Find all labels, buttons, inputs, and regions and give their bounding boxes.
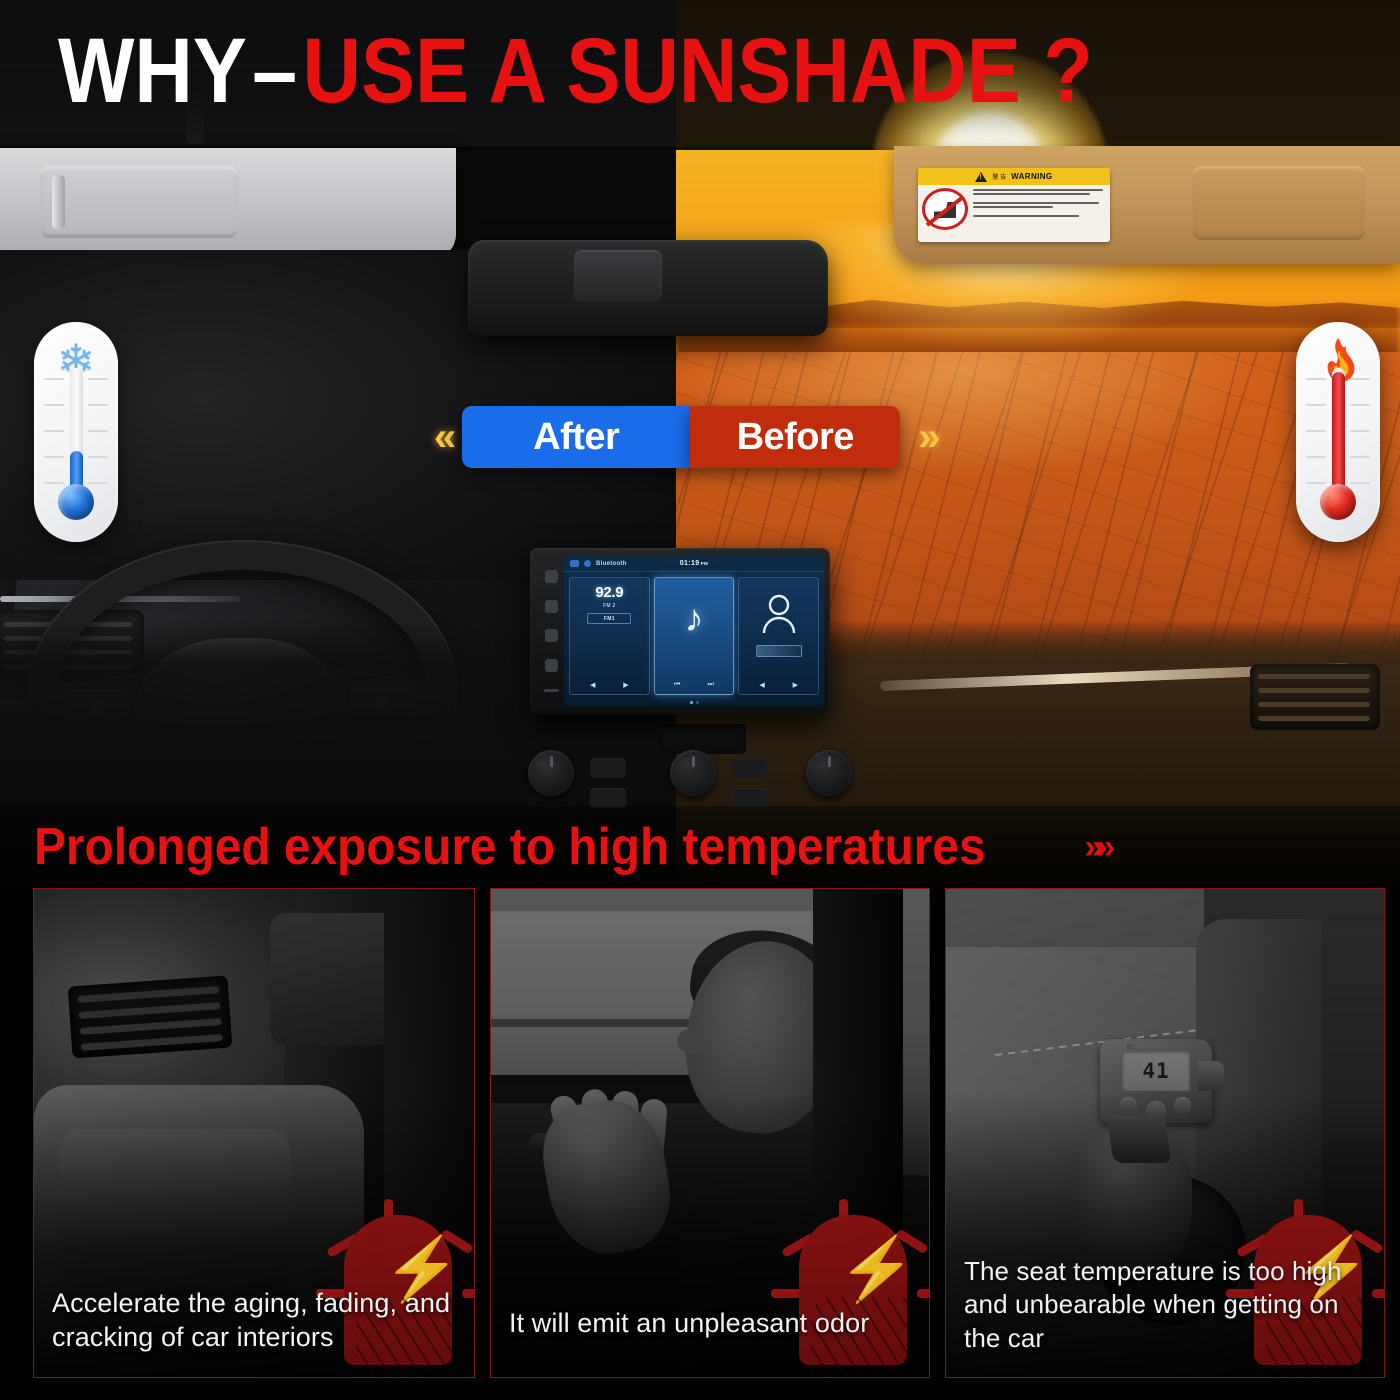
aging-interior-card: ⚡ Accelerate the aging, fading, and crac…	[33, 888, 475, 1378]
radio-preset-pill[interactable]: FM1	[587, 613, 631, 624]
head-unit-screen[interactable]: Bluetooth 01:19PM 92.9 FM 2 FM1 ◀	[564, 556, 824, 706]
title-word-red: USE A SUNSHADE ?	[302, 20, 1092, 122]
card-caption: The seat temperature is too high and unb…	[946, 1255, 1384, 1377]
banner-chevrons-icon: »»	[1084, 828, 1108, 867]
media-next-track-icon[interactable]: ⏭	[708, 681, 714, 689]
radio-frequency: 92.9	[595, 584, 623, 601]
climate-button-2[interactable]	[590, 788, 626, 808]
card-caption: It will emit an unpleasant odor	[491, 1306, 929, 1377]
after-badge[interactable]: After	[462, 406, 690, 468]
title-word-why: WHY	[58, 20, 247, 122]
climate-knob-left[interactable]	[528, 750, 574, 796]
visor-mirror-cover-left	[40, 166, 238, 238]
warning-label-body	[918, 185, 1110, 233]
volume-icon[interactable]	[545, 629, 558, 642]
product-infographic: 警 告 WARNING	[0, 0, 1400, 1400]
head-unit-status-bar: Bluetooth 01:19PM	[564, 556, 824, 572]
media-tile-controls[interactable]: ⏮ ⏭	[655, 681, 734, 689]
profile-tile[interactable]: ◀ ▶	[738, 577, 819, 695]
profile-next-icon[interactable]: ▶	[793, 681, 798, 689]
page-title: WHY–USE A SUNSHADE ?	[0, 0, 1400, 142]
cold-thermometer: ❄	[34, 322, 118, 542]
settings-icon[interactable]	[545, 659, 558, 672]
visor-mirror-cover-right	[1192, 166, 1366, 240]
before-badge[interactable]: Before	[690, 406, 900, 468]
chevron-right-icon: »	[900, 417, 944, 457]
air-vent-right	[1250, 664, 1380, 730]
thermometer-tube-hot	[1332, 368, 1345, 496]
home-icon[interactable]	[545, 600, 558, 613]
radio-tile-controls[interactable]: ◀ ▶	[570, 681, 649, 689]
section-banner-text: Prolonged exposure to high temperatures	[34, 821, 986, 873]
title-dash: –	[247, 20, 303, 122]
climate-knob-center[interactable]	[670, 750, 716, 796]
thermometer-bulb-cold	[58, 484, 94, 520]
thermometer-fill-hot	[1332, 372, 1345, 496]
head-unit-clock: 01:19PM	[564, 560, 824, 567]
media-prev-track-icon[interactable]: ⏮	[674, 681, 680, 689]
media-tile[interactable]: ♪ ⏮ ⏭	[654, 577, 735, 695]
section-banner: Prolonged exposure to high temperatures …	[0, 806, 1400, 888]
head-unit-tiles: 92.9 FM 2 FM1 ◀ ▶ ♪ ⏮	[564, 572, 824, 698]
radio-next-icon[interactable]: ▶	[623, 681, 628, 689]
page-title-text: WHY–USE A SUNSHADE ?	[58, 25, 1093, 117]
radio-prev-icon[interactable]: ◀	[590, 681, 595, 689]
user-profile-icon	[761, 594, 797, 639]
warning-label-cjk: 警 告	[992, 172, 1006, 181]
climate-knob-right[interactable]	[806, 750, 852, 796]
thermometer-bulb-hot	[1320, 484, 1356, 520]
warning-triangle-icon	[975, 172, 987, 182]
hot-thermometer	[1296, 322, 1380, 542]
profile-prev-icon[interactable]: ◀	[759, 681, 764, 689]
head-unit-side-buttons[interactable]	[538, 556, 564, 706]
power-icon[interactable]	[545, 570, 558, 583]
no-child-seat-icon	[922, 188, 968, 230]
hot-seat-card: °C 41	[945, 888, 1385, 1378]
eject-icon[interactable]	[544, 689, 559, 692]
chevron-left-icon: «	[420, 417, 462, 457]
warning-label-text-lines	[973, 188, 1106, 230]
card-caption: Accelerate the aging, fading, and cracki…	[34, 1286, 474, 1377]
head-unit-page-dots[interactable]	[564, 698, 824, 706]
climate-button-1[interactable]	[590, 758, 626, 778]
music-note-icon: ♪	[685, 600, 704, 638]
airbag-warning-label: 警 告 WARNING	[918, 168, 1110, 242]
radio-tile[interactable]: 92.9 FM 2 FM1 ◀ ▶	[569, 577, 650, 695]
profile-tile-controls[interactable]: ◀ ▶	[739, 681, 818, 689]
climate-button-4[interactable]	[732, 788, 768, 808]
rearview-mirror	[468, 240, 828, 336]
before-after-toggle[interactable]: « After Before »	[420, 406, 945, 468]
warning-label-header: 警 告 WARNING	[918, 168, 1110, 185]
climate-button-3[interactable]	[732, 758, 768, 778]
sun-visor-right: 警 告 WARNING	[894, 146, 1400, 264]
thermometer-tube-cold	[70, 368, 83, 496]
sun-visor-left	[0, 148, 456, 260]
profile-progress-bar	[756, 645, 802, 657]
unpleasant-odor-card: ⚡ It will emit an unpleasant odor	[490, 888, 930, 1378]
consequence-cards: ⚡ Accelerate the aging, fading, and crac…	[0, 888, 1400, 1400]
infotainment-head-unit[interactable]: Bluetooth 01:19PM 92.9 FM 2 FM1 ◀	[530, 548, 830, 714]
warning-label-heading: WARNING	[1011, 172, 1052, 181]
radio-band-sub: FM 2	[603, 603, 616, 609]
